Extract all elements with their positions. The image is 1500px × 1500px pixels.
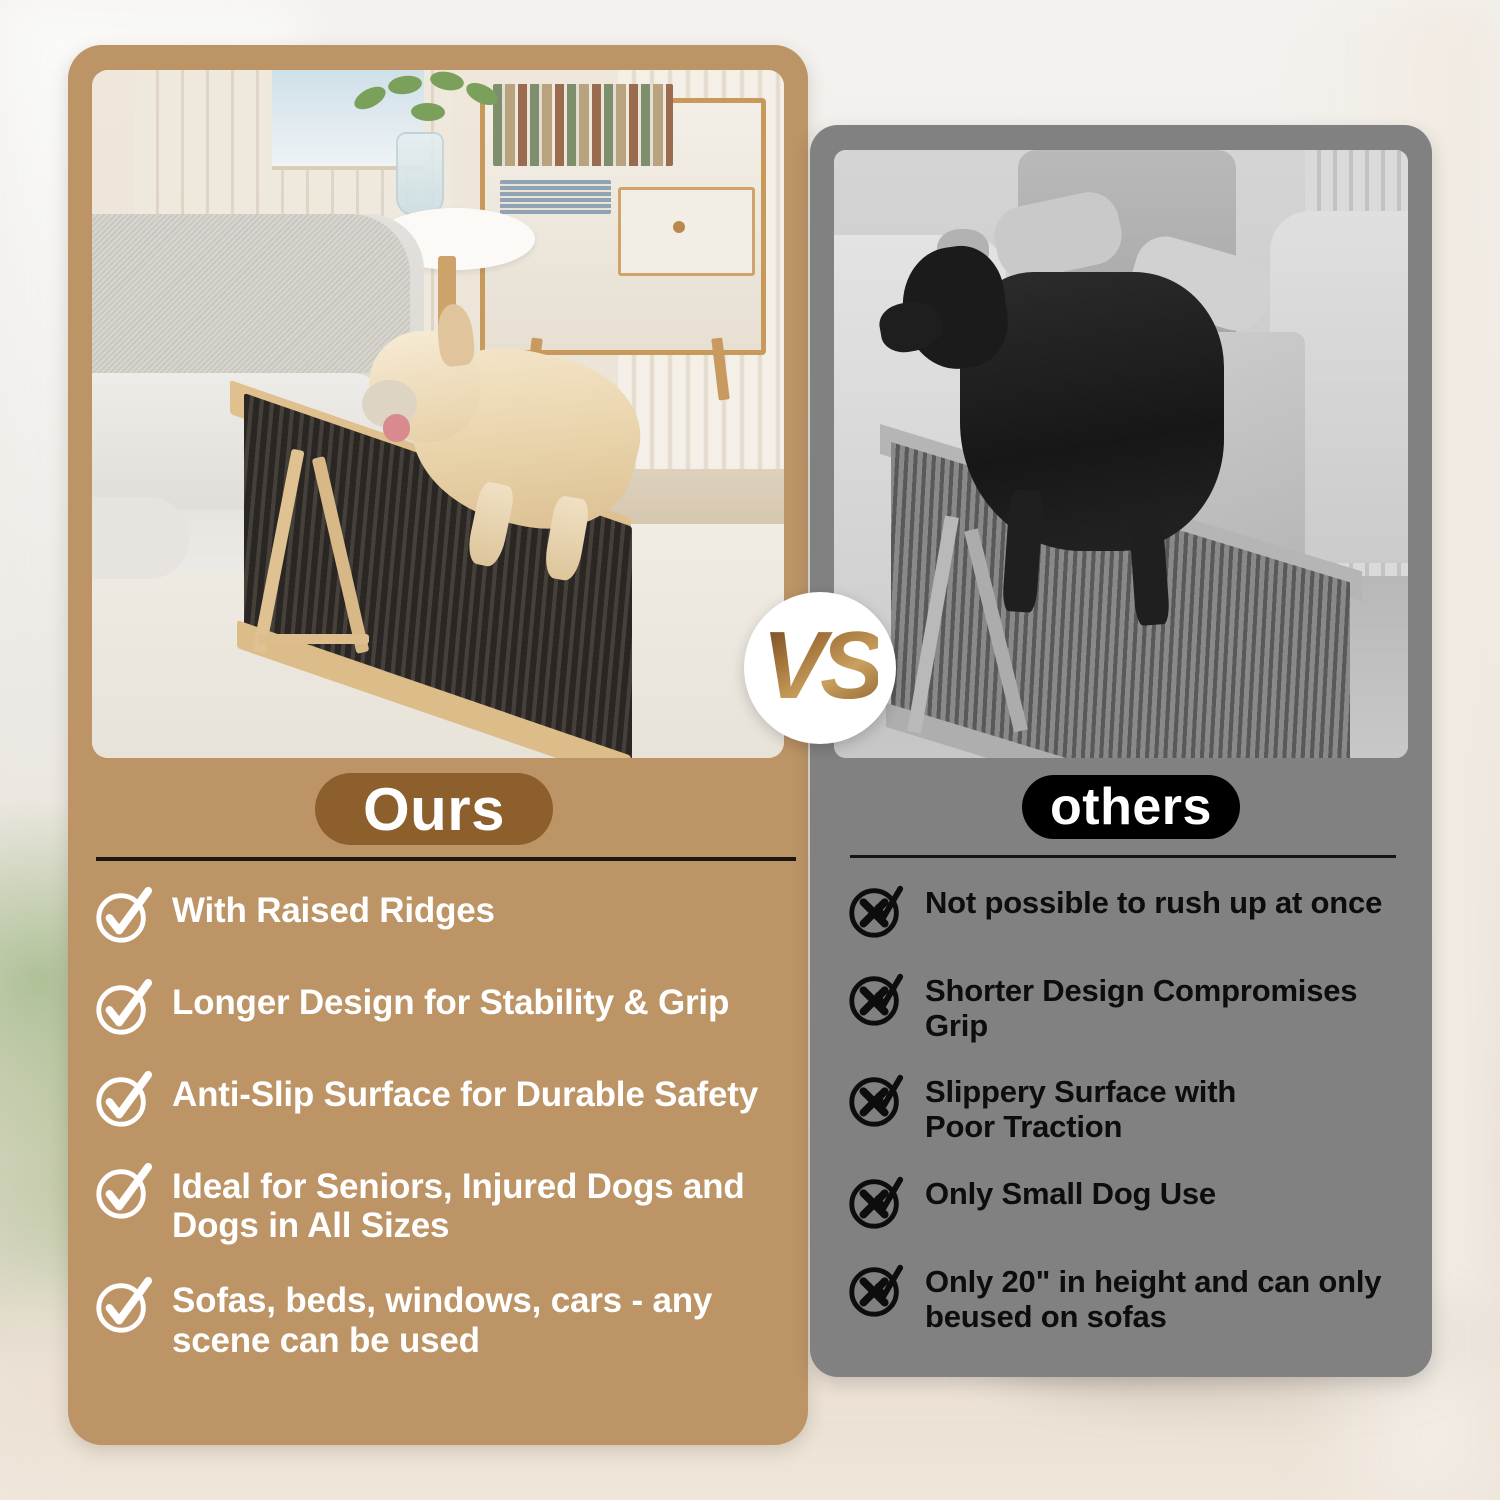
check-circle-icon: [92, 1161, 154, 1223]
list-item: Anti-Slip Surface for Durable Safety: [92, 1069, 802, 1131]
vs-badge-icon: VS: [744, 592, 896, 744]
ours-product-photo: [92, 70, 784, 758]
leaf: [463, 79, 501, 110]
cross-circle-icon: [845, 880, 907, 942]
check-circle-icon: [92, 1275, 154, 1337]
list-item: Slippery Surface with Poor Traction: [845, 1069, 1425, 1144]
cross-circle-icon: [845, 1259, 907, 1321]
feature-text: Slippery Surface with Poor Traction: [925, 1069, 1255, 1144]
feature-text: Longer Design for Stability & Grip: [172, 977, 729, 1022]
cross-circle-icon: [845, 1069, 907, 1131]
others-feature-list: Not possible to rush up at once Shorter …: [845, 880, 1425, 1360]
feature-text: Shorter Design Compromises Grip: [925, 968, 1395, 1043]
leaf: [350, 82, 388, 114]
others-header-badge: others: [1022, 775, 1240, 839]
cross-circle-icon: [845, 968, 907, 1030]
feature-text: Ideal for Seniors, Injured Dogs and Dogs…: [172, 1161, 772, 1245]
feature-text: Only 20" in height and can only beused o…: [925, 1259, 1385, 1334]
check-circle-icon: [92, 885, 154, 947]
list-item: Ideal for Seniors, Injured Dogs and Dogs…: [92, 1161, 802, 1245]
glass-vase: [396, 132, 444, 216]
leaf: [411, 102, 446, 121]
vs-label: VS: [762, 618, 878, 714]
others-product-photo: [834, 150, 1408, 758]
list-item: Not possible to rush up at once: [845, 880, 1425, 942]
others-divider: [850, 855, 1396, 858]
list-item: With Raised Ridges: [92, 885, 802, 947]
ours-header-badge: Ours: [315, 773, 553, 845]
feature-text: Only Small Dog Use: [925, 1171, 1216, 1212]
comparison-infographic: Ours With Raised Ridges Longer Design fo…: [0, 0, 1500, 1500]
check-circle-icon: [92, 1069, 154, 1131]
list-item: Longer Design for Stability & Grip: [92, 977, 802, 1039]
feature-text: With Raised Ridges: [172, 885, 495, 930]
feature-text: Sofas, beds, windows, cars - any scene c…: [172, 1275, 732, 1359]
ramp-foot: [258, 634, 369, 644]
list-item: Shorter Design Compromises Grip: [845, 968, 1425, 1043]
check-circle-icon: [92, 977, 154, 1039]
list-item: Sofas, beds, windows, cars - any scene c…: [92, 1275, 802, 1359]
ours-divider: [96, 857, 796, 861]
list-item: Only Small Dog Use: [845, 1171, 1425, 1233]
stacked-books: [500, 180, 611, 214]
cross-circle-icon: [845, 1171, 907, 1233]
ours-feature-list: With Raised Ridges Longer Design for Sta…: [92, 885, 802, 1390]
ours-photo-scene: [92, 70, 784, 758]
others-photo-scene: [834, 150, 1408, 758]
feature-text: Anti-Slip Surface for Durable Safety: [172, 1069, 758, 1114]
list-item: Only 20" in height and can only beused o…: [845, 1259, 1425, 1334]
sofa-cushion-roll: [92, 497, 189, 580]
dog-tongue: [383, 414, 411, 442]
cabinet-drawer: [618, 187, 755, 276]
sofa-backrest: [92, 214, 410, 372]
leaf: [387, 73, 423, 96]
ours-header-label: Ours: [363, 775, 505, 844]
feature-text: Not possible to rush up at once: [925, 880, 1382, 921]
others-header-label: others: [1050, 777, 1212, 837]
leaf: [429, 70, 466, 93]
